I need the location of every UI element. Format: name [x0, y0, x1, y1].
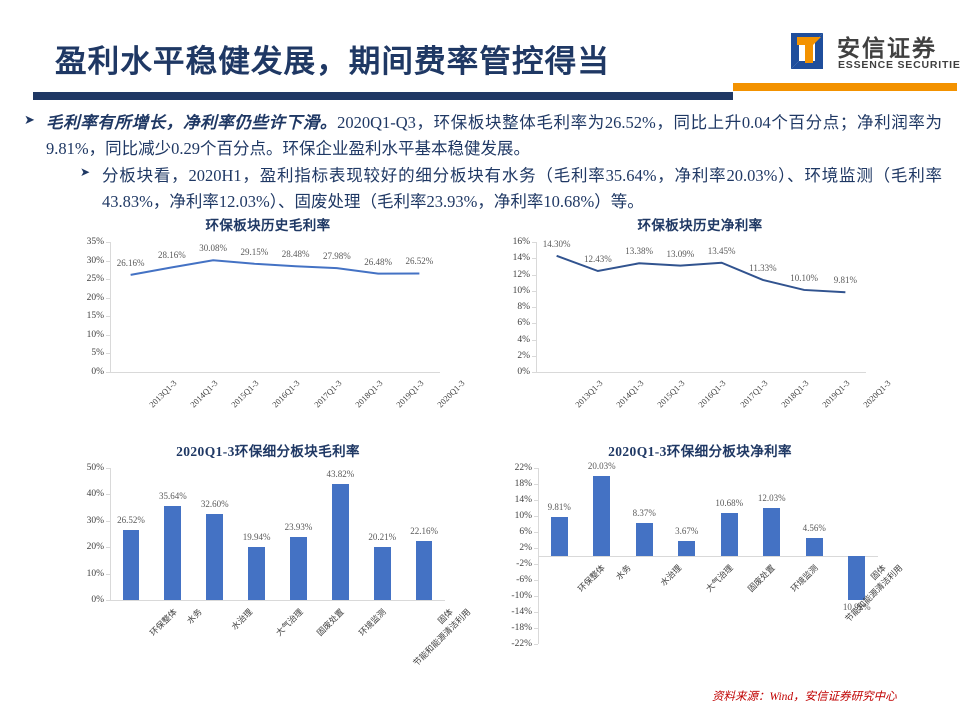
- data-label: 10.10%: [790, 273, 818, 283]
- bar: [848, 556, 865, 600]
- data-label: 14.30%: [543, 239, 571, 249]
- chart-sub-sector-gross-margin: 2020Q1-3环保细分板块毛利率 0%10%20%30%40%50%26.52…: [68, 440, 468, 670]
- data-label: 13.45%: [708, 246, 736, 256]
- paragraph-2-text: 分板块看，2020H1，盈利指标表现较好的细分板块有水务（毛利率35.64%，净…: [102, 166, 942, 211]
- y-tick-label: 18%: [490, 479, 532, 489]
- data-label: 8.37%: [633, 508, 656, 518]
- bar: [248, 547, 265, 600]
- data-label: 11.33%: [749, 263, 776, 273]
- y-tick-label: 20%: [62, 542, 104, 552]
- data-label: 3.67%: [675, 526, 698, 536]
- y-tick-label: -18%: [490, 623, 532, 633]
- y-tick-label: 10%: [490, 511, 532, 521]
- data-label: 23.93%: [285, 522, 313, 532]
- paragraph-2: ➤分板块看，2020H1，盈利指标表现较好的细分板块有水务（毛利率35.64%，…: [24, 163, 942, 214]
- y-tick-label: 10%: [62, 569, 104, 579]
- y-tick-mark: [106, 600, 110, 601]
- data-label: 4.56%: [803, 523, 826, 533]
- chart-title: 2020Q1-3环保细分板块毛利率: [68, 440, 468, 460]
- data-label: 9.81%: [834, 275, 857, 285]
- paragraph-1-emphasis: 毛利率有所增长，净利率仍些许下滑。: [46, 113, 337, 132]
- bar: [806, 538, 823, 556]
- x-axis-label: 环境监测: [356, 606, 389, 639]
- data-label: 35.64%: [159, 491, 187, 501]
- bar: [636, 523, 653, 556]
- data-label: 27.98%: [323, 251, 351, 261]
- data-label: 32.60%: [201, 499, 229, 509]
- body-text: ➤毛利率有所增长，净利率仍些许下滑。2020Q1-Q3，环保板块整体毛利率为26…: [24, 110, 942, 214]
- data-label: 22.16%: [410, 526, 438, 536]
- data-label: 12.03%: [758, 493, 786, 503]
- page-title: 盈利水平稳健发展，期间费率管控得当: [55, 36, 610, 81]
- x-axis-label: 固废处置: [745, 562, 778, 595]
- data-label: 43.82%: [326, 469, 354, 479]
- y-tick-mark: [534, 516, 538, 517]
- chart-sub-sector-net-margin: 2020Q1-3环保细分板块净利率 -22%-18%-14%-10%-6%-2%…: [490, 440, 910, 680]
- data-label: 28.48%: [282, 249, 310, 259]
- data-label: 20.03%: [588, 461, 616, 471]
- bar: [551, 517, 568, 556]
- x-axis: [538, 556, 878, 557]
- y-tick-mark: [534, 564, 538, 565]
- data-label: 13.38%: [625, 246, 653, 256]
- y-tick-label: 2%: [490, 543, 532, 553]
- bullet-arrow-icon-2: ➤: [80, 163, 90, 182]
- y-tick-label: -6%: [490, 575, 532, 585]
- y-tick-label: 14%: [490, 495, 532, 505]
- x-axis-label: 环保整体: [575, 562, 608, 595]
- bar: [374, 547, 391, 600]
- source-note: 资料来源：Wind，安信证券研究中心: [712, 688, 897, 704]
- y-tick-label: 6%: [490, 527, 532, 537]
- y-tick-mark: [534, 468, 538, 469]
- y-tick-mark: [106, 574, 110, 575]
- y-tick-mark: [106, 494, 110, 495]
- bullet-arrow-icon: ➤: [24, 110, 35, 130]
- y-tick-mark: [106, 468, 110, 469]
- bar: [290, 537, 307, 600]
- logo-mark-icon: [785, 29, 829, 73]
- y-tick-mark: [534, 500, 538, 501]
- x-axis-label: 固废处置: [314, 606, 347, 639]
- x-axis-label: 环境监测: [788, 562, 821, 595]
- data-label: 9.81%: [548, 502, 571, 512]
- y-tick-mark: [534, 596, 538, 597]
- y-tick-label: 0%: [62, 595, 104, 605]
- title-underline-navy: [33, 92, 733, 100]
- x-axis-label: 大气治理: [703, 562, 736, 595]
- title-underline-orange: [733, 83, 957, 91]
- y-tick-label: -22%: [490, 639, 532, 649]
- bar: [416, 541, 433, 600]
- x-axis-label: 水务: [184, 606, 205, 627]
- y-tick-mark: [534, 644, 538, 645]
- y-tick-mark: [534, 548, 538, 549]
- paragraph-1: ➤毛利率有所增长，净利率仍些许下滑。2020Q1-Q3，环保板块整体毛利率为26…: [24, 110, 942, 161]
- y-tick-mark: [534, 532, 538, 533]
- x-axis-label: 水治理: [658, 562, 685, 589]
- data-label: 12.43%: [584, 254, 612, 264]
- x-axis: [110, 600, 445, 601]
- y-tick-mark: [106, 547, 110, 548]
- data-label: 13.09%: [667, 249, 695, 259]
- data-label: 29.15%: [241, 247, 269, 257]
- data-label: 20.21%: [368, 532, 396, 542]
- data-label: 30.08%: [199, 243, 227, 253]
- y-tick-mark: [534, 580, 538, 581]
- y-tick-label: -14%: [490, 607, 532, 617]
- bar: [123, 530, 140, 600]
- bar: [721, 513, 738, 556]
- y-tick-mark: [534, 484, 538, 485]
- chart-title: 2020Q1-3环保细分板块净利率: [490, 440, 910, 460]
- chart-gross-margin-history: 环保板块历史毛利率 0%5%10%15%20%25%30%35%26.16%28…: [68, 214, 468, 430]
- y-tick-mark: [106, 521, 110, 522]
- x-axis-label: 水治理: [228, 606, 255, 633]
- y-tick-label: 22%: [490, 463, 532, 473]
- data-label: 10.68%: [715, 498, 743, 508]
- y-tick-mark: [534, 612, 538, 613]
- x-axis-label: 大气治理: [273, 606, 306, 639]
- y-tick-label: -10%: [490, 591, 532, 601]
- bar: [678, 541, 695, 556]
- bar: [593, 476, 610, 556]
- y-tick-label: 30%: [62, 516, 104, 526]
- y-tick-label: 50%: [62, 463, 104, 473]
- y-tick-label: -2%: [490, 559, 532, 569]
- data-label: 26.52%: [406, 256, 434, 266]
- x-axis-label: 环保整体: [147, 606, 180, 639]
- logo-english-name: ESSENCE SECURITIES: [838, 59, 960, 71]
- data-label: 26.52%: [117, 515, 145, 525]
- y-tick-label: 40%: [62, 489, 104, 499]
- bar: [164, 506, 181, 600]
- data-label: 26.48%: [364, 257, 392, 267]
- logo-chinese-name: 安信证券: [837, 29, 937, 63]
- x-axis-label: 水务: [613, 562, 634, 583]
- data-label: 26.16%: [117, 258, 145, 268]
- y-axis: [110, 468, 111, 600]
- data-label: 28.16%: [158, 250, 186, 260]
- chart-net-margin-history: 环保板块历史净利率 0%2%4%6%8%10%12%14%16%14.30%12…: [490, 214, 910, 430]
- y-tick-mark: [534, 628, 538, 629]
- bar: [763, 508, 780, 556]
- slide: 盈利水平稳健发展，期间费率管控得当 安信证券 ESSENCE SECURITIE…: [0, 0, 960, 720]
- bar: [206, 514, 223, 600]
- bar: [332, 484, 349, 600]
- data-label: 19.94%: [243, 532, 271, 542]
- brand-logo: 安信证券 ESSENCE SECURITIES: [785, 27, 955, 79]
